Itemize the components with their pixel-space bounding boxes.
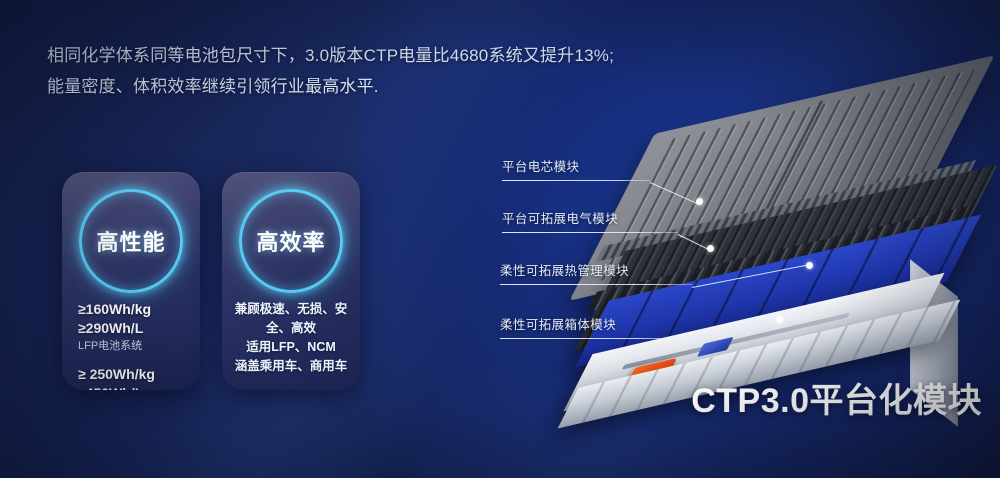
efficiency-line: 适用LFP、NCM (230, 338, 352, 357)
ring-badge: 高性能 (79, 189, 183, 293)
headline-line-1: 相同化学体系同等电池包尺寸下，3.0版本CTP电量比4680系统又提升13%; (47, 40, 667, 71)
callout-rule (500, 338, 676, 339)
feature-card-group: 高性能 ≥160Wh/kg ≥290Wh/L LFP电池系统 ≥ 250Wh/k… (62, 172, 360, 390)
spec-value: ≥450Wh/L (78, 384, 192, 390)
headline: 相同化学体系同等电池包尺寸下，3.0版本CTP电量比4680系统又提升13%; … (47, 40, 667, 102)
card-ring-title: 高效率 (256, 225, 325, 257)
feature-card-high-efficiency[interactable]: 高效率 兼顾极速、无损、安 全、高效 适用LFP、NCM 涵盖乘用车、商用车 (222, 172, 360, 390)
callout-label: 柔性可拓展热管理模块 (500, 260, 692, 279)
feature-card-high-performance[interactable]: 高性能 ≥160Wh/kg ≥290Wh/L LFP电池系统 ≥ 250Wh/k… (62, 172, 200, 390)
spec-value: ≥160Wh/kg (78, 300, 192, 319)
spec-note: LFP电池系统 (78, 338, 192, 355)
spec-value: ≥290Wh/L (78, 319, 192, 338)
callout-label: 平台可拓展电气模块 (502, 208, 678, 227)
efficiency-line: 兼顾极速、无损、安 (230, 300, 352, 319)
callout-label: 平台电芯模块 (502, 156, 650, 175)
card-ring-title: 高性能 (96, 225, 165, 257)
slide-canvas: 相同化学体系同等电池包尺寸下，3.0版本CTP电量比4680系统又提升13%; … (0, 0, 1000, 478)
callout-label: 柔性可拓展箱体模块 (500, 314, 676, 333)
callout-cell-module[interactable]: 平台电芯模块 (502, 156, 650, 181)
spec-spacer (78, 355, 192, 365)
callout-enclosure-module[interactable]: 柔性可拓展箱体模块 (500, 314, 676, 339)
callout-electrical-module[interactable]: 平台可拓展电气模块 (502, 208, 678, 233)
efficiency-line: 全、高效 (230, 319, 352, 338)
callout-rule (502, 232, 678, 233)
callout-rule (500, 284, 692, 285)
card-body: 兼顾极速、无损、安 全、高效 适用LFP、NCM 涵盖乘用车、商用车 (222, 300, 360, 376)
battery-pack-illustration (588, 92, 1000, 392)
callout-rule (502, 180, 650, 181)
ring-badge: 高效率 (239, 189, 343, 293)
bottom-title: CTP3.0平台化模块 (691, 373, 982, 422)
spec-value: ≥ 250Wh/kg (78, 365, 192, 384)
efficiency-line: 涵盖乘用车、商用车 (230, 357, 352, 376)
card-body: ≥160Wh/kg ≥290Wh/L LFP电池系统 ≥ 250Wh/kg ≥4… (62, 300, 200, 390)
headline-line-2: 能量密度、体积效率继续引领行业最高水平. (47, 71, 667, 102)
callout-thermal-module[interactable]: 柔性可拓展热管理模块 (500, 260, 692, 285)
